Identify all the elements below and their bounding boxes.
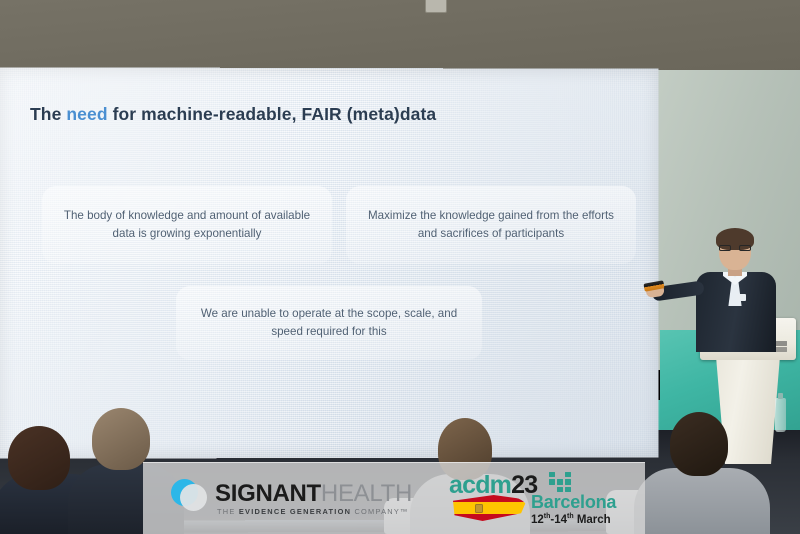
acdm-date: 12th-14th March: [531, 513, 611, 526]
audience-head: [8, 426, 70, 490]
audience-shoulders: [634, 468, 770, 534]
water-bottle: [775, 398, 786, 432]
ceiling-fixture: [425, 0, 447, 13]
signant-circles-icon: [171, 479, 207, 515]
slide-title-accent: need: [66, 104, 107, 124]
spain-flag-icon: [453, 495, 527, 521]
acdm-city: Barcelona: [531, 492, 616, 513]
audience-member-4: [652, 412, 758, 534]
speaker-badge: [736, 294, 746, 301]
date-sup-2: th: [567, 513, 574, 520]
signant-health-logo: SIGNANTHEALTH THE EVIDENCE GENERATION CO…: [143, 463, 433, 534]
audience-head: [670, 412, 728, 476]
glasses-icon: [719, 245, 751, 251]
date-prefix: 12: [531, 514, 544, 526]
signant-wordmark: SIGNANTHEALTH: [215, 480, 412, 508]
acdm-grid-icon: [549, 472, 571, 492]
signant-tagline: THE EVIDENCE GENERATION COMPANY™: [217, 507, 409, 516]
slide-title-before: The: [30, 104, 66, 124]
speaker-presenter: [690, 232, 782, 352]
date-mid: -14: [550, 514, 567, 526]
tagline-strong: EVIDENCE GENERATION: [239, 507, 351, 516]
acdm23-logo: acdm23 Barcelona 12th-14th March: [443, 463, 645, 534]
slide-title-after: for machine-readable, FAIR (meta)data: [108, 104, 437, 124]
signant-name-bold: SIGNANT: [215, 480, 321, 507]
slide-title: The need for machine-readable, FAIR (met…: [30, 104, 436, 125]
signant-name-light: HEALTH: [321, 480, 412, 507]
audience-head: [92, 408, 150, 470]
slide-text-box-1: The body of knowledge and amount of avai…: [42, 186, 332, 264]
wall-upper: [0, 0, 800, 76]
date-suffix: March: [574, 514, 611, 526]
tagline-pre: THE: [217, 507, 239, 516]
slide-text-box-2: Maximize the knowledge gained from the e…: [346, 186, 636, 264]
overlay-banner: SIGNANTHEALTH THE EVIDENCE GENERATION CO…: [143, 462, 645, 534]
conference-photo-scene: The need for machine-readable, FAIR (met…: [0, 0, 800, 534]
tagline-post: COMPANY™: [351, 507, 409, 516]
slide-text-box-3: We are unable to operate at the scope, s…: [176, 286, 482, 360]
